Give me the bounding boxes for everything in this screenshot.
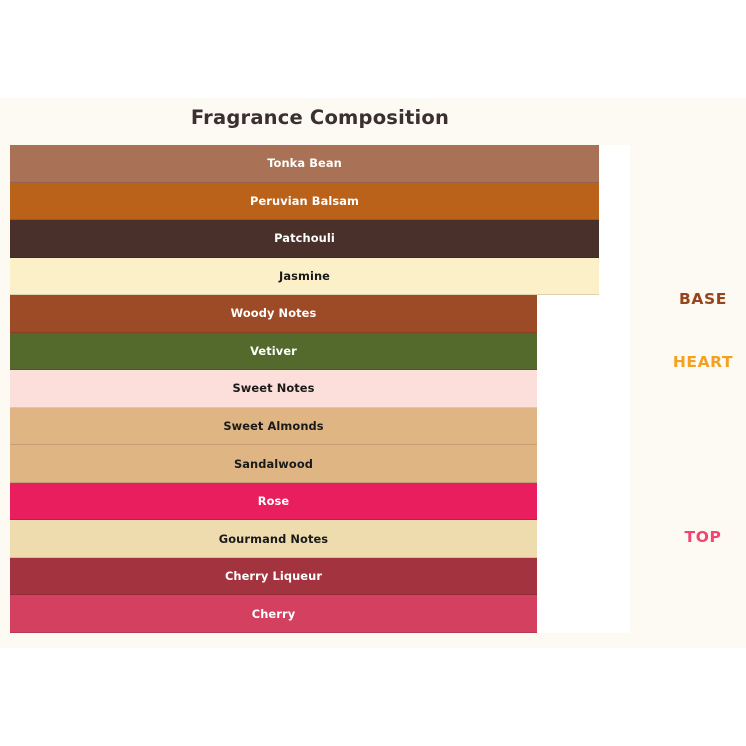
chart-canvas: Fragrance Composition Tonka BeanPeruvian…	[0, 0, 746, 746]
bar-woody-notes[interactable]: Woody Notes	[10, 295, 537, 333]
bar-label: Rose	[258, 494, 290, 508]
bar-label: Sweet Notes	[233, 381, 315, 395]
bar-series: Tonka BeanPeruvian BalsamPatchouliJasmin…	[10, 145, 630, 633]
bar-peruvian-balsam[interactable]: Peruvian Balsam	[10, 183, 599, 221]
bar-sweet-almonds[interactable]: Sweet Almonds	[10, 408, 537, 446]
bar-label: Jasmine	[279, 269, 330, 283]
bar-patchouli[interactable]: Patchouli	[10, 220, 599, 258]
bar-label: Cherry	[252, 607, 295, 621]
bar-label: Patchouli	[274, 231, 335, 245]
bar-label: Tonka Bean	[267, 156, 342, 170]
bar-label: Gourmand Notes	[219, 532, 328, 546]
bar-label: Sandalwood	[234, 457, 313, 471]
bar-sweet-notes[interactable]: Sweet Notes	[10, 370, 537, 408]
bar-jasmine[interactable]: Jasmine	[10, 258, 599, 296]
bar-cherry-liqueur[interactable]: Cherry Liqueur	[10, 558, 537, 596]
bar-label: Sweet Almonds	[223, 419, 323, 433]
page-title: Fragrance Composition	[0, 106, 640, 129]
bar-tonka-bean[interactable]: Tonka Bean	[10, 145, 599, 183]
bar-label: Cherry Liqueur	[225, 569, 322, 583]
group-annotation-base: BASE	[660, 290, 746, 308]
bar-gourmand-notes[interactable]: Gourmand Notes	[10, 520, 537, 558]
bar-label: Woody Notes	[231, 306, 317, 320]
bar-vetiver[interactable]: Vetiver	[10, 333, 537, 371]
bar-rose[interactable]: Rose	[10, 483, 537, 521]
bar-cherry[interactable]: Cherry	[10, 595, 537, 633]
bar-label: Peruvian Balsam	[250, 194, 359, 208]
bar-sandalwood[interactable]: Sandalwood	[10, 445, 537, 483]
bar-label: Vetiver	[250, 344, 297, 358]
group-annotation-top: TOP	[660, 528, 746, 546]
group-annotation-heart: HEART	[660, 353, 746, 371]
